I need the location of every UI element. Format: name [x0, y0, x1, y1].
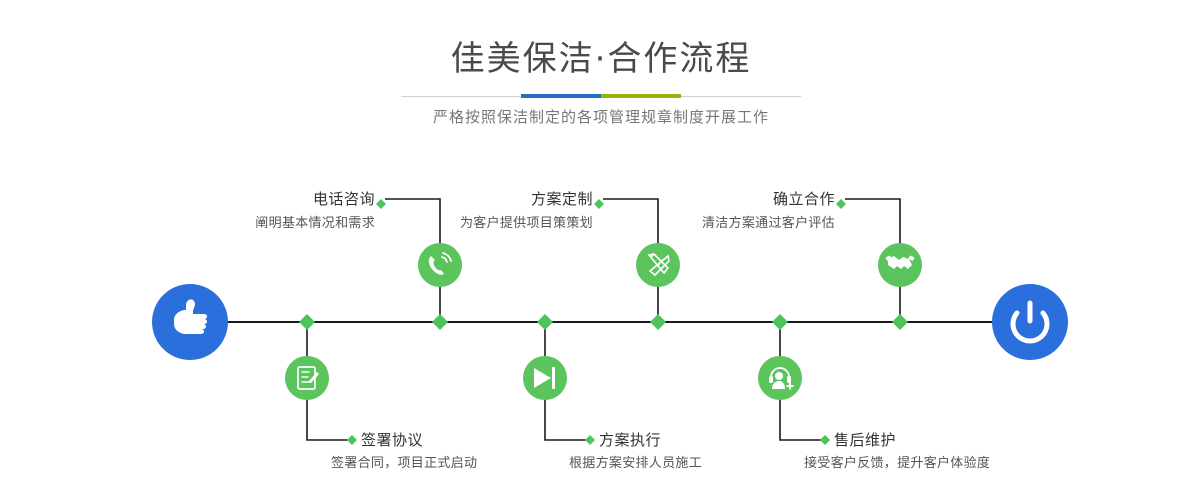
step-label-desc-6: 接受客户反馈，提升客户体验度: [804, 457, 990, 470]
step-node-3[interactable]: [636, 243, 680, 287]
flow-start-node[interactable]: [152, 284, 228, 360]
label-marker-step-2: [347, 435, 357, 445]
step-label-desc-5: 清洁方案通过客户评估: [615, 217, 835, 230]
timeline-diamond-step-2: [299, 314, 315, 330]
step-label-title-4: 方案执行: [599, 433, 661, 448]
label-marker-step-4: [585, 435, 595, 445]
process-flow-diagram: [0, 0, 1202, 502]
label-marker-step-6: [820, 435, 830, 445]
step-node-6[interactable]: [758, 356, 802, 400]
step-label-desc-1: 阐明基本情况和需求: [155, 217, 375, 230]
step-circle-1: [418, 243, 462, 287]
page-root: 佳美保洁·合作流程 严格按照保洁制定的各项管理规章制度开展工作: [0, 0, 1202, 502]
timeline-diamond-step-1: [432, 314, 448, 330]
step-label-desc-4: 根据方案安排人员施工: [569, 457, 702, 470]
timeline-diamond-step-5: [892, 314, 908, 330]
timeline-diamond-step-4: [537, 314, 553, 330]
step-label-title-1: 电话咨询: [175, 192, 375, 207]
step-node-4[interactable]: [523, 356, 567, 400]
timeline-diamond-step-3: [650, 314, 666, 330]
timeline-diamond-step-6: [772, 314, 788, 330]
step-node-2[interactable]: [285, 356, 329, 400]
step-label-title-3: 方案定制: [393, 192, 593, 207]
step-label-title-6: 售后维护: [834, 433, 896, 448]
label-marker-step-5: [836, 199, 846, 209]
step-label-title-5: 确立合作: [635, 192, 835, 207]
step-label-desc-2: 签署合同，项目正式启动: [331, 457, 477, 470]
label-marker-step-1: [376, 199, 386, 209]
step-circle-2: [285, 356, 329, 400]
step-node-5[interactable]: [878, 243, 922, 287]
step-label-title-2: 签署协议: [361, 433, 423, 448]
flow-end-node[interactable]: [992, 284, 1068, 360]
step-node-1[interactable]: [418, 243, 462, 287]
label-marker-step-3: [594, 199, 604, 209]
step-label-desc-3: 为客户提供项目策策划: [373, 217, 593, 230]
